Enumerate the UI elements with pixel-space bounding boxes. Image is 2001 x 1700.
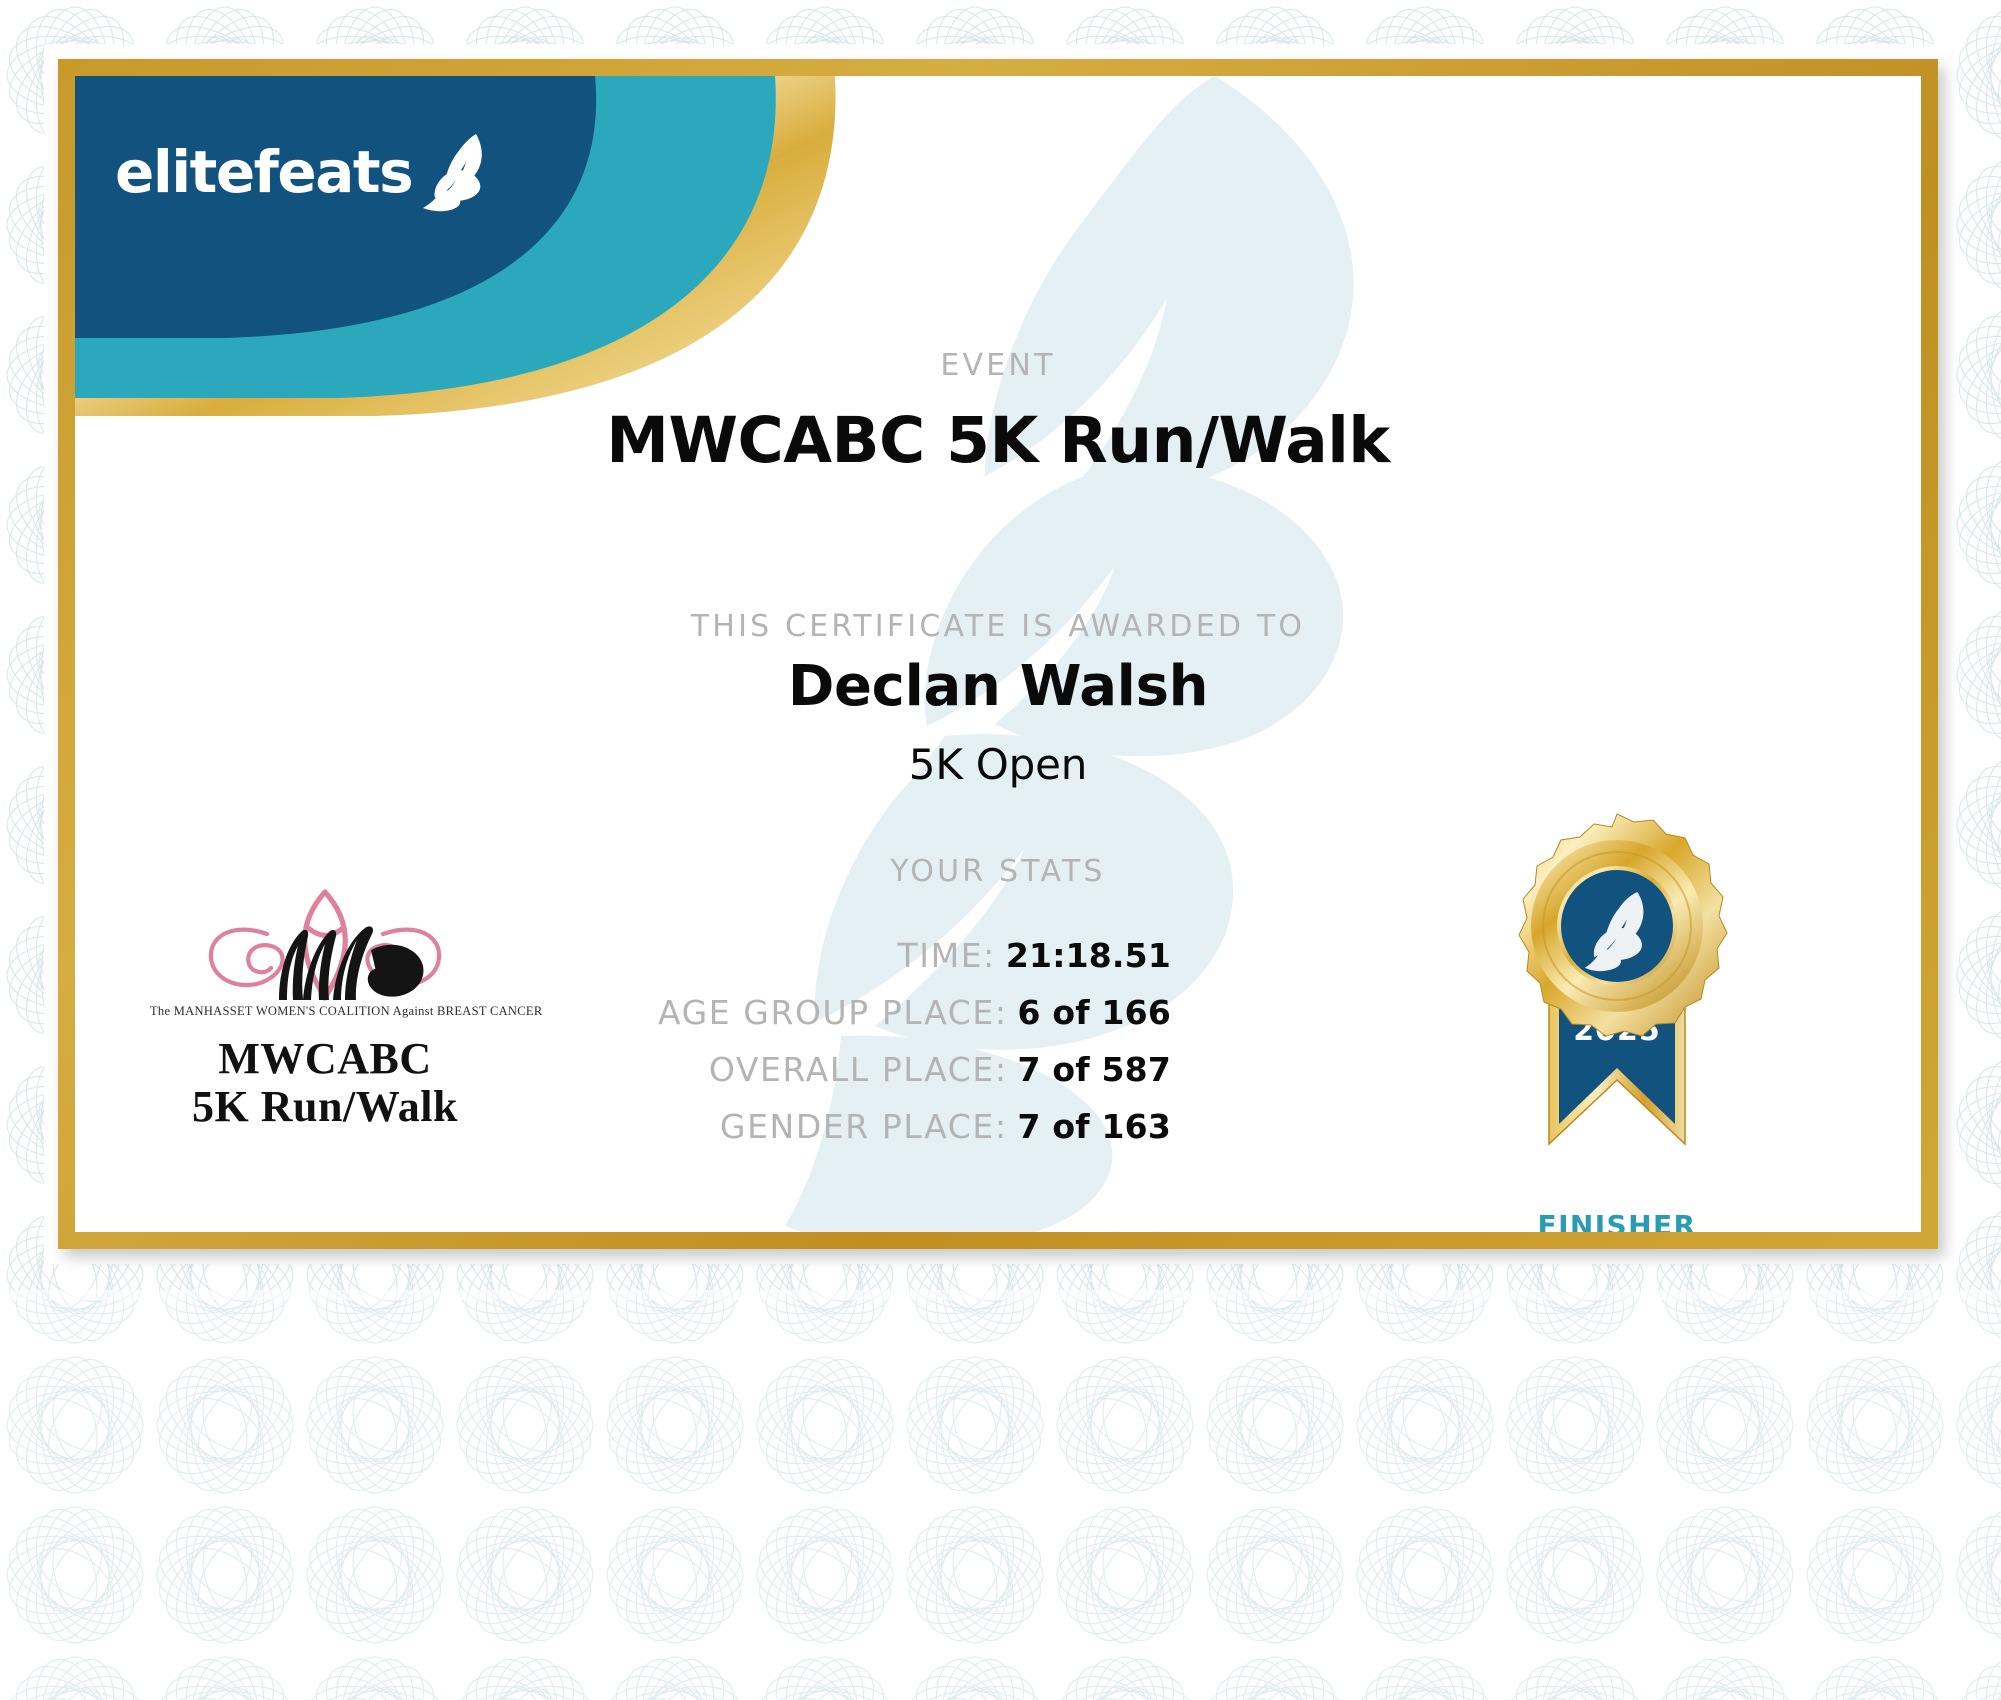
finisher-caption: FINISHER CERTIFICATE bbox=[1457, 1210, 1777, 1232]
finisher-medal: 2025 bbox=[1457, 804, 1777, 1232]
stat-key: TIME: bbox=[898, 936, 996, 975]
event-logo-name-line1: MWCABC bbox=[150, 1035, 500, 1083]
event-logo-name-line2: 5K Run/Walk bbox=[150, 1083, 500, 1131]
brand-wordmark: elitefeats bbox=[115, 143, 412, 201]
event-title: MWCABC 5K Run/Walk bbox=[75, 404, 1921, 477]
stat-value: 21:18.51 bbox=[1006, 936, 1171, 975]
event-label: EVENT bbox=[75, 348, 1921, 383]
winged-foot-icon bbox=[418, 132, 496, 212]
stat-key: GENDER PLACE: bbox=[720, 1107, 1008, 1146]
stat-key: AGE GROUP PLACE: bbox=[658, 993, 1008, 1032]
awarded-to-label: THIS CERTIFICATE IS AWARDED TO bbox=[75, 609, 1921, 644]
stat-key: OVERALL PLACE: bbox=[709, 1050, 1008, 1089]
stat-value: 6 of 166 bbox=[1018, 993, 1171, 1032]
stat-value: 7 of 163 bbox=[1018, 1107, 1171, 1146]
medal-badge-icon: 2025 bbox=[1487, 804, 1747, 1204]
organization-tagline: The MANHASSET WOMEN'S COALITION Against … bbox=[150, 1004, 500, 1019]
stat-value: 7 of 587 bbox=[1018, 1050, 1171, 1089]
event-logo-name: MWCABC 5K Run/Walk bbox=[150, 1035, 500, 1130]
recipient-name: Declan Walsh bbox=[75, 654, 1921, 719]
event-organization-logo: The MANHASSET WOMEN'S COALITION Against … bbox=[150, 876, 500, 1130]
certificate-content: EVENT MWCABC 5K Run/Walk THIS CERTIFICAT… bbox=[75, 76, 1921, 1232]
pink-ribbon-monogram-icon bbox=[175, 876, 475, 1006]
gold-frame-border: elitefeats EVENT MWCABC 5K Run/Walk THIS… bbox=[58, 59, 1938, 1249]
finisher-caption-line1: FINISHER bbox=[1457, 1210, 1777, 1232]
certificate-body: elitefeats EVENT MWCABC 5K Run/Walk THIS… bbox=[75, 76, 1921, 1232]
elitefeats-logo: elitefeats bbox=[115, 132, 496, 212]
recipient-division: 5K Open bbox=[75, 740, 1921, 789]
certificate-page: elitefeats EVENT MWCABC 5K Run/Walk THIS… bbox=[0, 0, 2001, 1700]
